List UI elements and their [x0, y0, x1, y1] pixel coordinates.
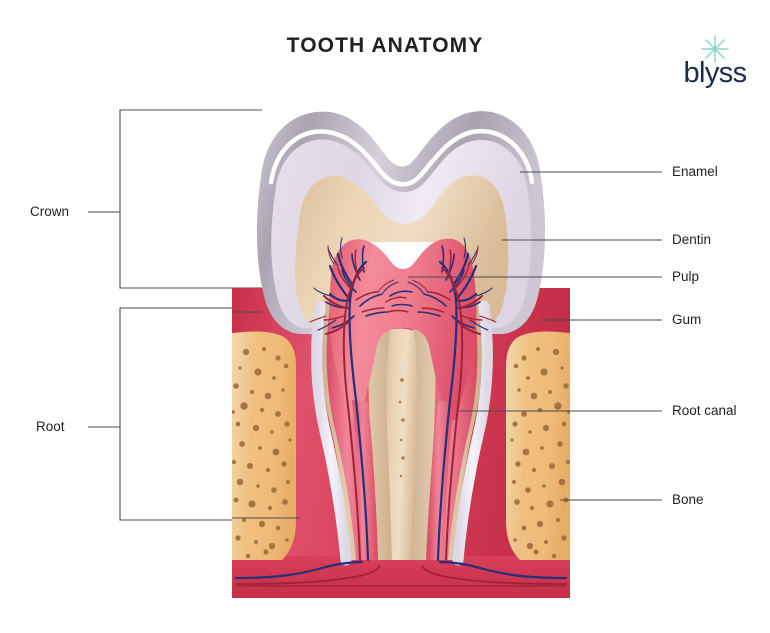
label-pulp: Pulp: [672, 269, 699, 284]
label-crown: Crown: [30, 204, 69, 219]
tooth-anatomy-figure: [0, 0, 770, 633]
label-root: Root: [36, 419, 65, 434]
label-bone: Bone: [672, 492, 704, 507]
label-root-canal: Root canal: [672, 403, 737, 418]
label-dentin: Dentin: [672, 232, 711, 247]
label-gum: Gum: [672, 312, 701, 327]
bracket-root: [88, 308, 248, 520]
label-enamel: Enamel: [672, 164, 718, 179]
bracket-crown: [88, 110, 262, 288]
alveolar-bone-right: [506, 331, 571, 560]
alveolar-bone-left: [231, 331, 296, 560]
tooth-cross-section-artwork: [231, 111, 571, 598]
gum-base-layer: [232, 556, 570, 598]
tooth-anatomy-svg: [0, 0, 770, 633]
